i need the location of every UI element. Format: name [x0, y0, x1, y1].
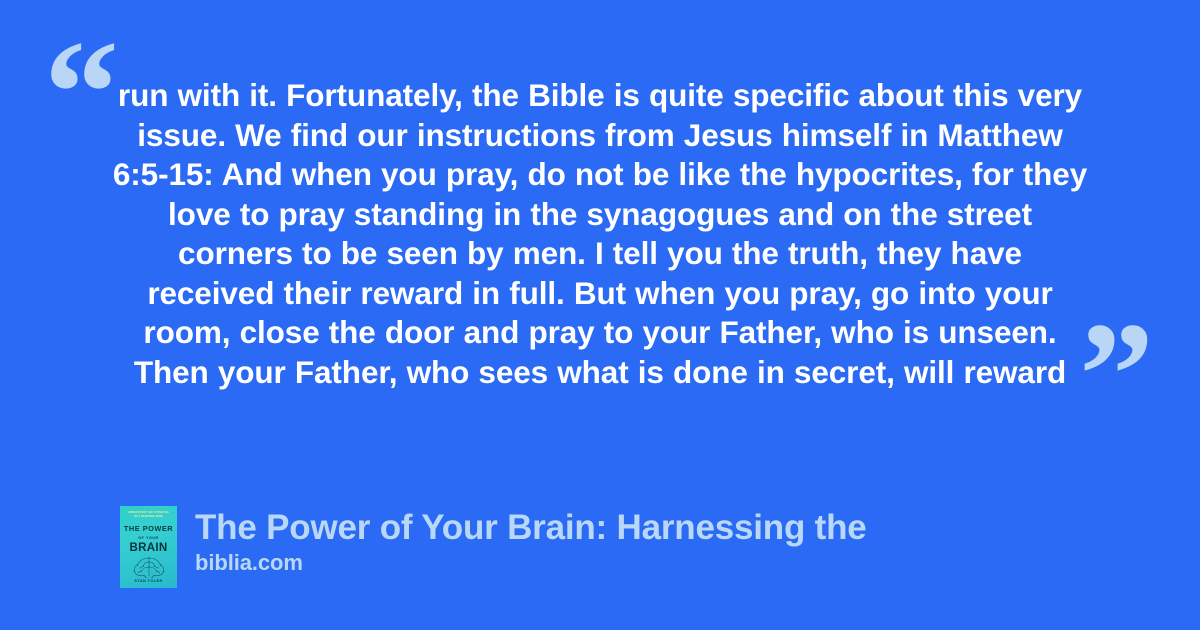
brain-illustration-icon [129, 556, 169, 578]
book-cover-tagline-line2: OF A RENEWED MIND [123, 515, 174, 519]
book-cover-title-line1: THE POWER [124, 525, 173, 533]
opening-quote-icon: “ [44, 18, 119, 168]
book-cover-tagline: UNDERSTAND THE POTENTIAL OF A RENEWED MI… [123, 511, 174, 518]
book-title[interactable]: The Power of Your Brain: Harnessing the [195, 507, 867, 548]
book-cover-author: STAN TOLER [120, 579, 177, 583]
quote-text: run with it. Fortunately, the Bible is q… [112, 76, 1088, 392]
site-domain[interactable]: biblia.com [195, 550, 867, 576]
closing-quote-icon: ” [1079, 300, 1154, 450]
quote-card: “ run with it. Fortunately, the Bible is… [0, 0, 1200, 630]
book-cover-title-line3: BRAIN [130, 542, 168, 554]
footer-text-group: The Power of Your Brain: Harnessing the … [195, 506, 867, 576]
book-cover-tagline-line1: UNDERSTAND THE POTENTIAL [128, 511, 170, 514]
book-cover-title-line2: OF YOUR [138, 536, 159, 540]
book-cover-thumbnail[interactable]: UNDERSTAND THE POTENTIAL OF A RENEWED MI… [120, 506, 177, 588]
quote-body: run with it. Fortunately, the Bible is q… [112, 76, 1088, 392]
footer: UNDERSTAND THE POTENTIAL OF A RENEWED MI… [120, 506, 867, 588]
